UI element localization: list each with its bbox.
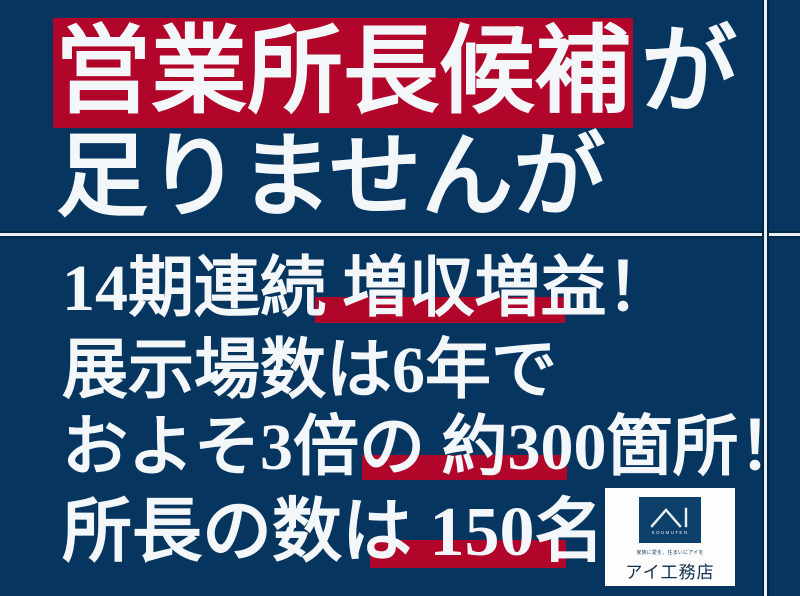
headline-highlight: 営業所長候補: [53, 18, 633, 128]
ai-roof-icon: KOUMUTEN: [639, 497, 701, 543]
body-line-4: 所長の数は 150名！: [62, 498, 675, 568]
headline-section: 営業所長候補 が 足りませんが: [0, 0, 765, 236]
body-line-3: およそ3倍の 約300箇所！: [62, 415, 800, 481]
logo-tagline: 家族に愛を、住まいにアイを: [636, 549, 703, 556]
poster-root: 営業所長候補 が 足りませんが 14期連続 増収増益！ 展示場数は6年で およそ…: [0, 0, 800, 596]
headline-line-2: 足りませんが: [56, 131, 605, 223]
headline-particle: が: [641, 24, 737, 120]
logo-koumuten-text: KOUMUTEN: [652, 530, 689, 535]
body-line-2: 展示場数は6年で: [62, 338, 557, 404]
body-line-1: 14期連続 増収増益！: [62, 256, 673, 322]
company-logo: KOUMUTEN 家族に愛を、住まいにアイを アイ工務店: [605, 488, 735, 586]
logo-company-name: アイ工務店: [625, 558, 714, 583]
headline-line-1: 営業所長候補 が: [53, 18, 737, 128]
